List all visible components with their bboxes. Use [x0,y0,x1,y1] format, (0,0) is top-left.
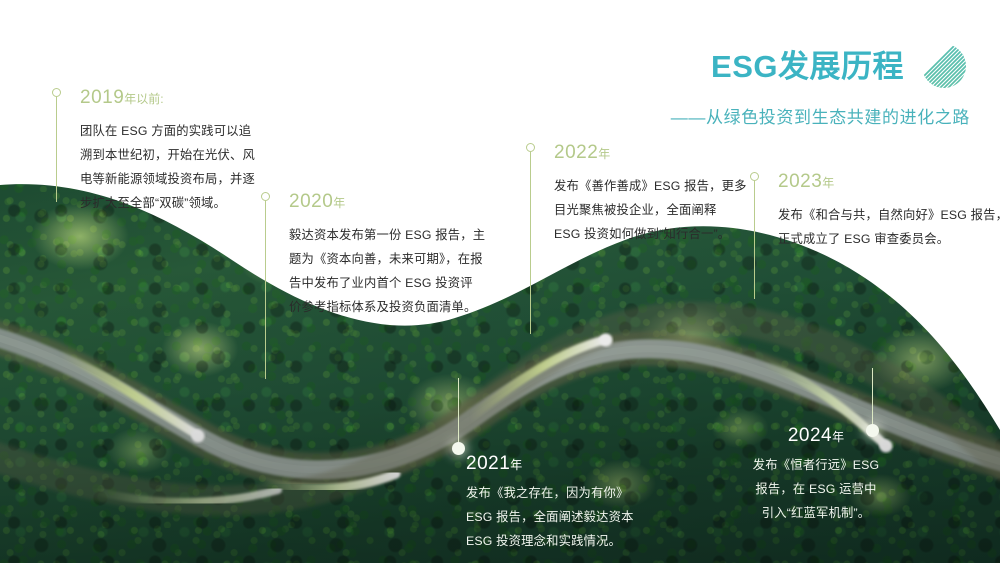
body-line: 正式成立了 ESG 审查委员会。 [778,228,1000,252]
body-line: 电等新能源领域投资布局，并逐 [80,168,255,192]
slide-canvas: ESG发展历程 [0,0,1000,563]
page-subtitle: ——从绿色投资到生态共建的进化之路 [671,103,970,128]
year-suffix: 年 [832,430,844,444]
body-line: 告中发布了业内首个 ESG 投资评 [289,272,485,296]
body-line: 引入“红蓝军机制”。 [736,502,896,526]
marker-dot-icon [261,192,270,201]
page-title: ESG发展历程 [711,51,904,82]
title-row: ESG发展历程 [671,40,970,92]
body-line: 毅达资本发布第一份 ESG 报告，主 [289,224,485,248]
body-line: 目光聚焦被投企业，全面阐释 [554,199,747,223]
timeline-body-2020: 毅达资本发布第一份 ESG 报告，主 题为《资本向善，未来可期》，在报 告中发布… [289,224,485,320]
timeline-year-2020: 2020年 [289,192,485,211]
marker-stem [872,368,873,430]
year-suffix: 年 [333,196,345,210]
timeline-year-2019: 2019年以前: [80,88,255,107]
timeline-body-2022: 发布《善作善成》ESG 报告，更多 目光聚焦被投企业，全面阐释 ESG 投资如何… [554,175,747,247]
year-number: 2023 [778,171,822,192]
marker-dot-icon [52,88,61,97]
marker-dot-icon [750,172,759,181]
timeline-body-2024: 发布《恒者行远》ESG 报告，在 ESG 运营中 引入“红蓝军机制”。 [736,454,896,526]
body-line: ESG 投资如何做到“知行合一”。 [554,223,747,247]
timeline-year-2022: 2022年 [554,143,747,162]
year-suffix: 年 [510,458,522,472]
header: ESG发展历程 [671,40,970,128]
timeline-body-2023: 发布《和合与共，自然向好》ESG 报告， 正式成立了 ESG 审查委员会。 [778,204,1000,252]
marker-dot-icon [526,143,535,152]
body-line: 溯到本世纪初，开始在光伏、风 [80,144,255,168]
timeline-entry-2024[interactable]: 2024年 发布《恒者行远》ESG 报告，在 ESG 运营中 引入“红蓝军机制”… [866,368,896,526]
body-line: 发布《和合与共，自然向好》ESG 报告， [778,204,1000,228]
body-line: ESG 投资理念和实践情况。 [466,530,634,554]
year-number: 2020 [289,191,333,212]
year-suffix: 年以前: [124,92,163,106]
body-line: 价参考指标体系及投资负面清单。 [289,296,485,320]
marker-dot-icon [866,424,879,437]
body-line: 报告，在 ESG 运营中 [736,478,896,502]
year-number: 2019 [80,87,124,108]
timeline-entry-2022[interactable]: 2022年 发布《善作善成》ESG 报告，更多 目光聚焦被投企业，全面阐释 ES… [526,143,747,247]
timeline-year-2021: 2021年 [466,454,634,473]
marker-dot-icon [452,442,465,455]
year-suffix: 年 [598,147,610,161]
body-line: 步扩大至全部“双碳”领域。 [80,192,255,216]
body-line: 团队在 ESG 方面的实践可以追 [80,120,255,144]
body-line: 发布《恒者行远》ESG [736,454,896,478]
marker-stem [56,97,57,202]
body-line: 发布《善作善成》ESG 报告，更多 [554,175,747,199]
year-suffix: 年 [822,176,834,190]
striped-circle-logo-icon [918,40,970,92]
year-number: 2022 [554,142,598,163]
timeline-year-2023: 2023年 [778,172,1000,191]
body-line: 发布《我之存在，因为有你》 [466,482,634,506]
marker-stem [458,378,459,448]
body-line: ESG 报告，全面阐述毅达资本 [466,506,634,530]
timeline-body-2021: 发布《我之存在，因为有你》 ESG 报告，全面阐述毅达资本 ESG 投资理念和实… [466,482,634,554]
timeline-entry-2020[interactable]: 2020年 毅达资本发布第一份 ESG 报告，主 题为《资本向善，未来可期》，在… [261,192,485,320]
marker-stem [265,201,266,379]
timeline-entry-2021[interactable]: 2021年 发布《我之存在，因为有你》 ESG 报告，全面阐述毅达资本 ESG … [452,378,634,554]
timeline-entry-2019[interactable]: 2019年以前: 团队在 ESG 方面的实践可以追 溯到本世纪初，开始在光伏、风… [52,88,255,216]
body-line: 题为《资本向善，未来可期》，在报 [289,248,485,272]
year-number: 2024 [788,425,832,446]
timeline-entry-2023[interactable]: 2023年 发布《和合与共，自然向好》ESG 报告， 正式成立了 ESG 审查委… [750,172,1000,252]
year-number: 2021 [466,453,510,474]
marker-stem [530,152,531,334]
marker-stem [754,181,755,299]
timeline-body-2019: 团队在 ESG 方面的实践可以追 溯到本世纪初，开始在光伏、风 电等新能源领域投… [80,120,255,216]
